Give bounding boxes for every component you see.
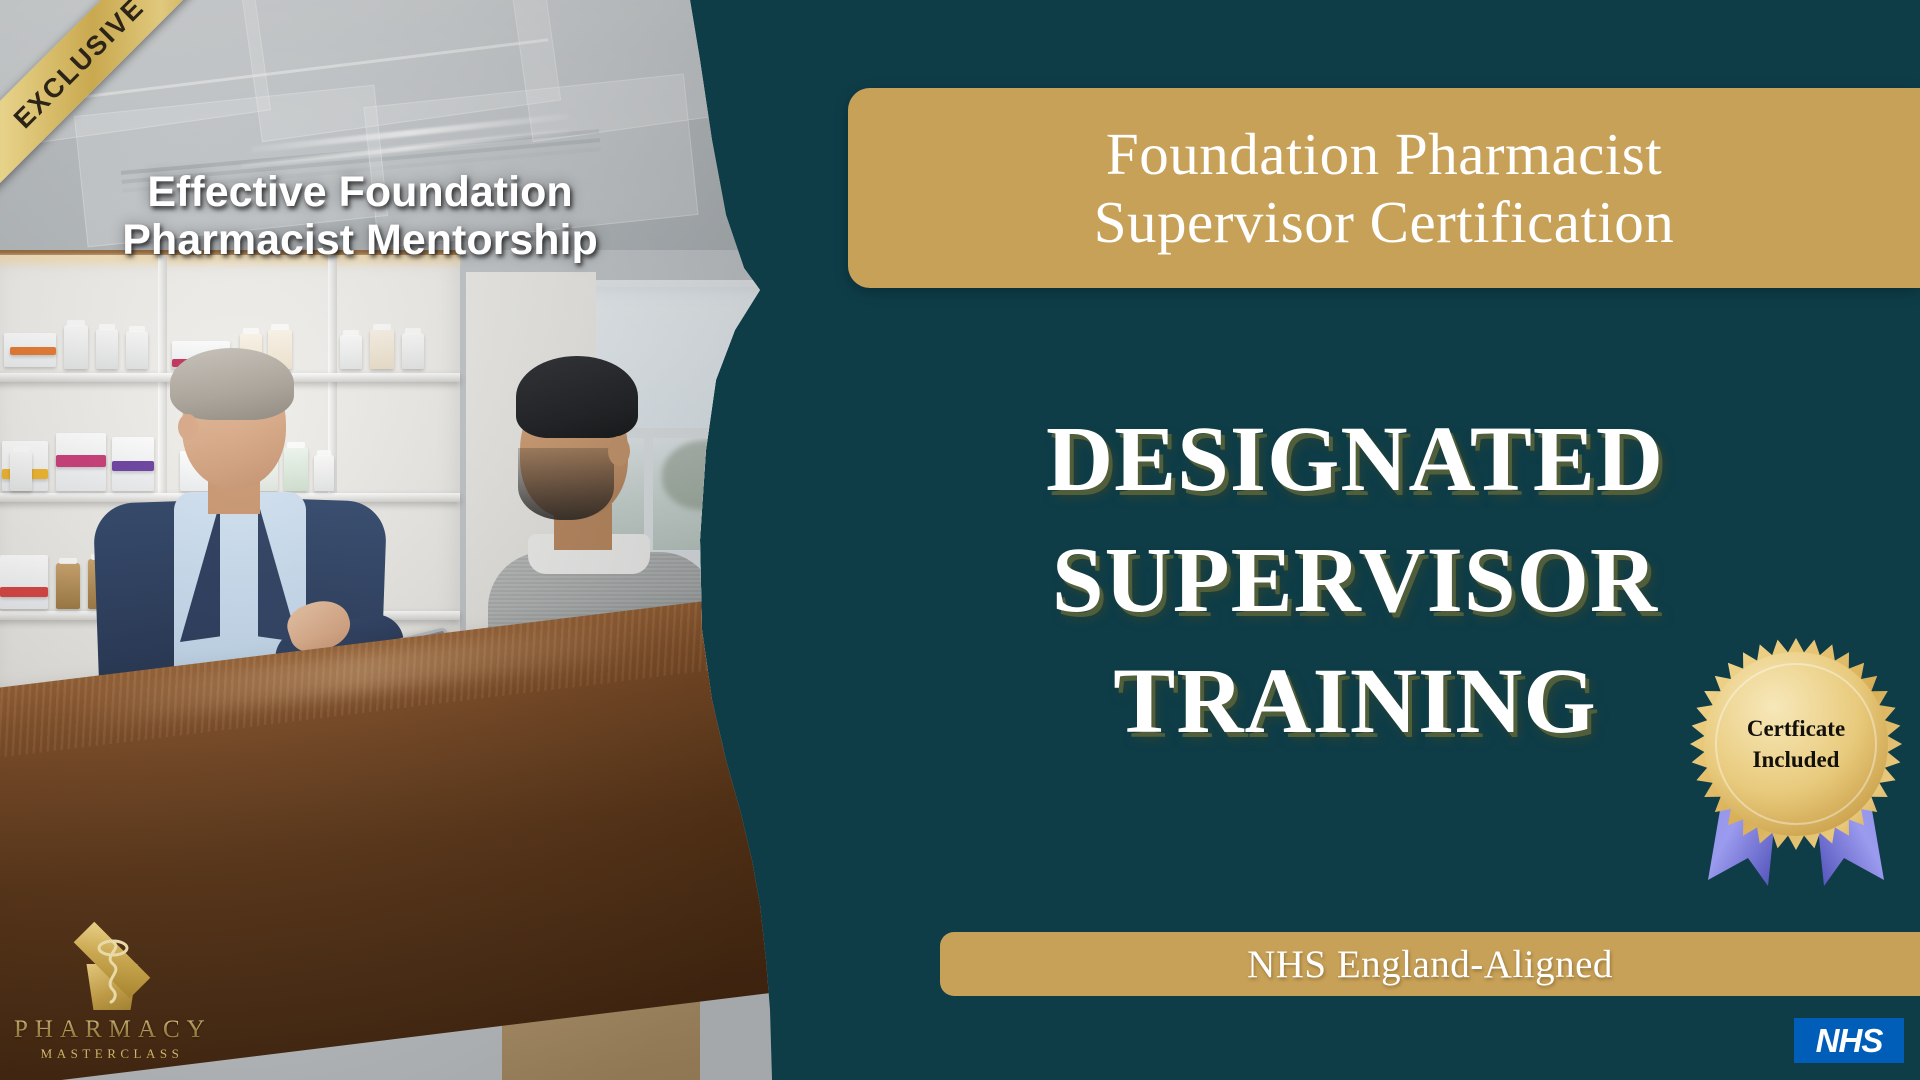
bowl-of-hygieia-icon (97, 934, 129, 1006)
ear (178, 414, 198, 440)
pill-bottle (64, 325, 88, 369)
nhs-aligned-bar: NHS England-Aligned (940, 932, 1920, 996)
brand-subtitle: MASTERCLASS (14, 1046, 210, 1062)
amber-bottle (56, 563, 80, 609)
beard (518, 448, 614, 520)
pill-bottle (10, 451, 32, 491)
badge-text: Certficate Included (1690, 638, 1902, 850)
graduation-cap-icon (53, 928, 171, 1012)
main-headline-line-2: SUPERVISOR (850, 521, 1860, 642)
brand-name: PHARMACY (14, 1016, 210, 1044)
certificate-badge: Certficate Included (1682, 638, 1910, 900)
box-stripe (0, 587, 48, 597)
title-banner: Foundation Pharmacist Supervisor Certifi… (848, 88, 1920, 288)
main-headline-line-1: DESIGNATED (850, 400, 1860, 521)
pharmacy-masterclass-logo: PHARMACY MASTERCLASS (14, 928, 210, 1062)
photo-overlay-line-2: Pharmacist Mentorship (40, 216, 680, 264)
nhs-logo-label: NHS (1816, 1022, 1883, 1060)
promotional-poster: EXCLUSIVE Effective Foundation Pharmacis… (0, 0, 1920, 1080)
hair (516, 356, 638, 438)
pill-bottle (402, 333, 424, 369)
nhs-logo: NHS (1794, 1018, 1904, 1063)
nhs-aligned-label: NHS England-Aligned (1247, 942, 1613, 987)
title-banner-line-2: Supervisor Certification (1094, 188, 1675, 256)
hair (170, 348, 294, 420)
badge-line-2: Included (1753, 744, 1840, 775)
pharmacy-photo (0, 0, 800, 1080)
badge-line-1: Certficate (1747, 713, 1845, 744)
box-stripe (10, 347, 56, 355)
photo-overlay-headline: Effective Foundation Pharmacist Mentorsh… (40, 168, 680, 264)
photo-overlay-line-1: Effective Foundation (40, 168, 680, 216)
title-banner-line-1: Foundation Pharmacist (1106, 120, 1662, 188)
ear (608, 436, 630, 466)
medicine-box (0, 555, 48, 609)
